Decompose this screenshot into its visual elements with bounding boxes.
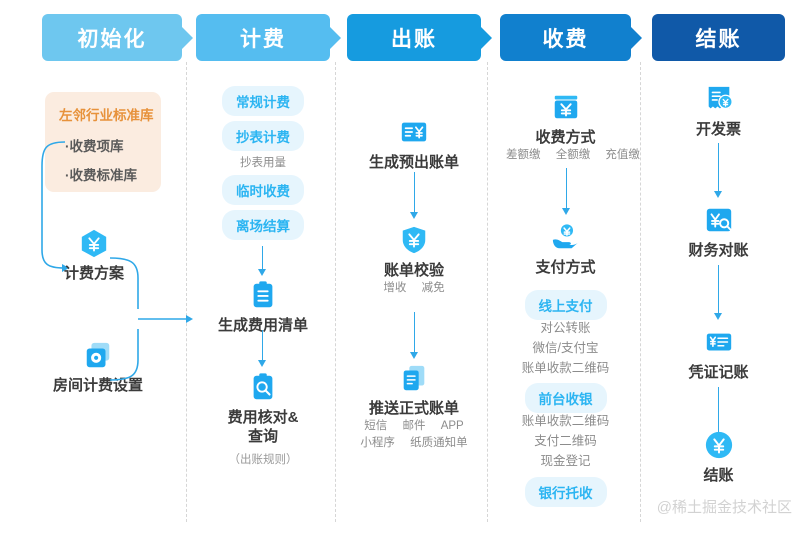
connector-line: [718, 143, 719, 193]
flowchart-canvas: 初始化 计费 出账 收费 结账 左邻行业标准库 ·收费项库 ·收费标准库 计费方…: [0, 0, 810, 534]
node-financial-reconciliation-label: 财务对账: [652, 241, 785, 260]
node-bill-verification-label: 账单校验: [347, 261, 481, 280]
sub-item: 减免: [422, 282, 445, 294]
shield-yen-icon: [399, 225, 429, 255]
node-bill-verification[interactable]: 账单校验 增收 减免: [347, 225, 481, 297]
node-voucher-bookkeeping[interactable]: 凭证记账: [652, 327, 785, 382]
arrow-head-icon: [410, 352, 418, 359]
sub-item: 纸质通知单: [410, 437, 468, 449]
stage-header-collect[interactable]: 收费: [500, 14, 631, 61]
node-charging-method-label: 收费方式: [500, 128, 631, 147]
arrow-head-icon: [562, 208, 570, 215]
node-bill-verification-subs: 增收 减免: [347, 280, 481, 297]
hand-coin-icon: [551, 222, 581, 252]
arrow-head-icon: [410, 212, 418, 219]
stage-header-issue[interactable]: 出账: [347, 14, 481, 61]
pill-bank-collection-label: 银行托收: [525, 477, 607, 507]
node-generate-fee-list[interactable]: 生成费用清单: [196, 280, 330, 335]
node-issue-invoice-label: 开发票: [652, 120, 785, 139]
node-charging-method-subs: 差额缴 全额缴 充值缴: [500, 147, 631, 164]
yen-circle-icon: [704, 430, 734, 460]
arrow-head-icon: [714, 191, 722, 198]
stage-header-init[interactable]: 初始化: [42, 14, 182, 61]
sub-item: 对公转账: [500, 318, 631, 338]
sub-item: 支付二维码: [500, 431, 631, 451]
connector-line: [414, 172, 415, 214]
pill-meter-billing-label: 抄表计费: [222, 121, 304, 151]
node-generate-pre-bill[interactable]: 生成预出账单: [347, 117, 481, 172]
stage-header-billing[interactable]: 计费: [196, 14, 330, 61]
column-divider-3: [487, 62, 488, 522]
node-voucher-bookkeeping-label: 凭证记账: [652, 363, 785, 382]
voucher-icon: [704, 327, 734, 357]
sub-item: 小程序: [360, 437, 395, 449]
stage-header-collect-label: 收费: [543, 23, 589, 53]
stage-header-init-label: 初始化: [78, 23, 147, 53]
sub-item: 短信: [364, 420, 387, 432]
chevron-arrow-icon: [631, 27, 642, 49]
sub-item: APP: [441, 420, 464, 432]
node-generate-fee-list-label: 生成费用清单: [196, 316, 330, 335]
yen-hexagon-icon: [79, 228, 109, 258]
pill-front-desk-cashier-label: 前台收银: [525, 383, 607, 413]
pill-checkout-settlement[interactable]: 离场结算: [196, 210, 330, 240]
sub-item: 增收: [383, 282, 406, 294]
pill-meter-billing-sub: 抄表用量: [196, 155, 330, 172]
chevron-arrow-icon: [330, 27, 341, 49]
pill-meter-billing[interactable]: 抄表计费 抄表用量: [196, 121, 330, 172]
sub-item: 邮件: [402, 420, 425, 432]
sub-item: 账单收款二维码: [500, 358, 631, 378]
sub-item: 现金登记: [500, 451, 631, 471]
column-divider-4: [640, 62, 641, 522]
sub-item: 账单收款二维码: [500, 411, 631, 431]
push-bill-icon: [399, 363, 429, 393]
clipboard-search-icon: [248, 372, 278, 402]
sub-item: 差额缴: [506, 149, 541, 161]
connector-line: [718, 265, 719, 315]
node-payment-method[interactable]: 支付方式: [500, 222, 631, 277]
connector-line: [262, 330, 263, 362]
sub-item: 充值缴: [605, 149, 640, 161]
group-front-desk-cashier-items: 账单收款二维码 支付二维码 现金登记: [500, 411, 631, 471]
node-settle-account[interactable]: 结账: [652, 430, 785, 485]
connector-line: [414, 312, 415, 354]
pill-front-desk-cashier[interactable]: 前台收银: [500, 383, 631, 413]
node-fee-verify-query-label: 费用核对&: [196, 408, 330, 427]
sub-item: 微信/支付宝: [500, 338, 631, 358]
column-divider-2: [335, 62, 336, 522]
standard-library-title: 左邻行业标准库: [59, 104, 147, 124]
connector-line: [566, 168, 567, 210]
node-fee-verify-query[interactable]: 费用核对& 查询 （出账规则）: [196, 372, 330, 467]
chevron-arrow-icon: [481, 27, 492, 49]
connector-line: [262, 246, 263, 271]
node-payment-method-label: 支付方式: [500, 258, 631, 277]
stage-header-billing-label: 计费: [240, 23, 286, 53]
sub-item: 全额缴: [556, 149, 591, 161]
node-fee-verify-query-note: （出账规则）: [196, 451, 330, 467]
arrow-head-icon: [186, 315, 193, 323]
node-charging-method[interactable]: 收费方式 差额缴 全额缴 充值缴: [500, 92, 631, 164]
pill-temporary-fee[interactable]: 临时收费: [196, 175, 330, 205]
node-push-official-bill-subs2: 小程序 纸质通知单: [347, 435, 481, 452]
node-push-official-bill-label: 推送正式账单: [347, 399, 481, 418]
node-issue-invoice[interactable]: 开发票: [652, 84, 785, 139]
pill-online-payment[interactable]: 线上支付: [500, 290, 631, 320]
pill-temporary-fee-label: 临时收费: [222, 175, 304, 205]
node-settle-account-label: 结账: [652, 466, 785, 485]
stage-header-issue-label: 出账: [391, 23, 437, 53]
node-push-official-bill-subs: 短信 邮件 APP: [347, 418, 481, 435]
group-online-payment-items: 对公转账 微信/支付宝 账单收款二维码: [500, 318, 631, 378]
pill-checkout-settlement-label: 离场结算: [222, 210, 304, 240]
arrow-head-icon: [258, 269, 266, 276]
node-push-official-bill[interactable]: 推送正式账单 短信 邮件 APP 小程序 纸质通知单: [347, 363, 481, 452]
pill-online-payment-label: 线上支付: [525, 290, 607, 320]
invoice-icon: [704, 84, 734, 114]
pre-bill-icon: [399, 117, 429, 147]
chevron-arrow-icon: [182, 27, 193, 49]
pill-bank-collection[interactable]: 银行托收: [500, 477, 631, 507]
stage-header-settle[interactable]: 结账: [652, 14, 785, 61]
clipboard-list-icon: [248, 280, 278, 310]
node-financial-reconciliation[interactable]: 财务对账: [652, 205, 785, 260]
reconcile-icon: [704, 205, 734, 235]
connector-col1-to-col2: [108, 254, 194, 384]
pill-regular-billing[interactable]: 常规计费: [196, 86, 330, 116]
wallet-yen-icon: [551, 92, 581, 122]
watermark: @稀土掘金技术社区: [657, 496, 792, 517]
arrow-head-icon: [714, 313, 722, 320]
pill-regular-billing-label: 常规计费: [222, 86, 304, 116]
node-generate-pre-bill-label: 生成预出账单: [347, 153, 481, 172]
arrow-head-icon: [258, 360, 266, 367]
stage-header-settle-label: 结账: [696, 23, 742, 53]
node-fee-verify-query-label2: 查询: [196, 427, 330, 446]
